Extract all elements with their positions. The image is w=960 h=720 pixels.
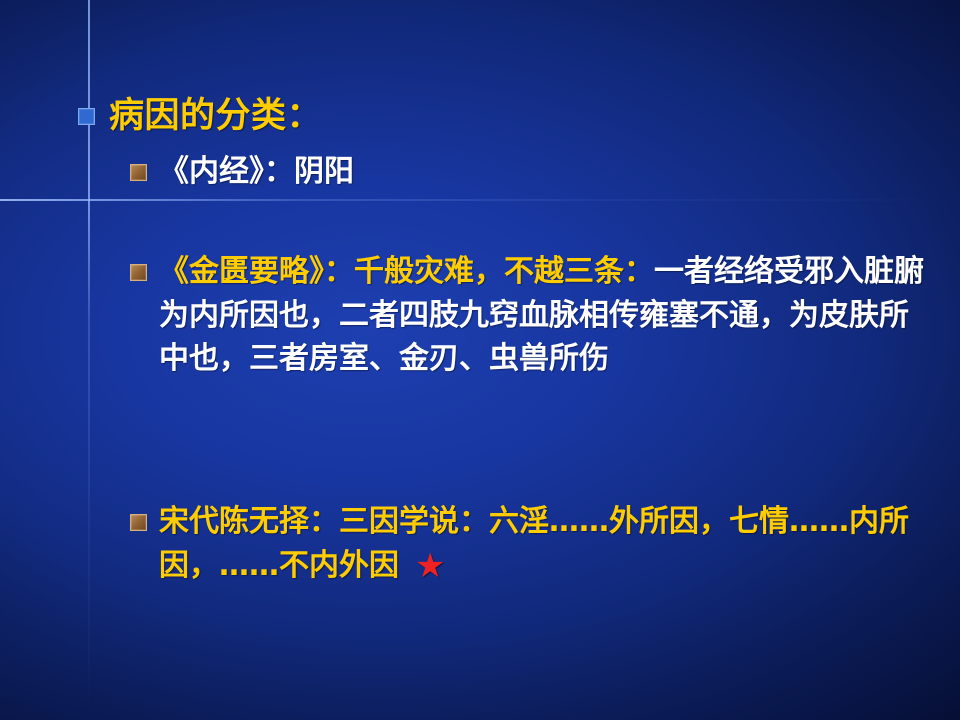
jingui-highlight-text: 《金匮要略》：千般灾难，不越三条： bbox=[159, 254, 654, 289]
list-item-text-sandai: 宋代陈无择：三因学说：六淫……外所因，七情……内所因，……不内外因★ bbox=[159, 500, 934, 587]
decorative-horizontal-line bbox=[0, 199, 960, 201]
square-bullet-icon bbox=[78, 108, 95, 125]
slide-title: 病因的分类： bbox=[109, 96, 322, 136]
red-star-icon: ★ bbox=[415, 546, 445, 586]
small-square-bullet-icon bbox=[130, 514, 147, 531]
small-square-bullet-icon bbox=[130, 264, 147, 281]
list-item: 《内经》：阴阳 bbox=[130, 150, 354, 194]
title-bullet-row: 病因的分类： bbox=[78, 96, 322, 136]
list-item-text-neijing: 《内经》：阴阳 bbox=[159, 150, 354, 194]
list-item: 宋代陈无择：三因学说：六淫……外所因，七情……内所因，……不内外因★ bbox=[130, 500, 940, 587]
small-square-bullet-icon bbox=[130, 164, 147, 181]
list-item: 《金匮要略》：千般灾难，不越三条：一者经络受邪入脏腑为内所因也，二者四肢九窍血脉… bbox=[130, 250, 940, 381]
list-item-text-jingui: 《金匮要略》：千般灾难，不越三条：一者经络受邪入脏腑为内所因也，二者四肢九窍血脉… bbox=[159, 250, 934, 381]
slide-canvas: 病因的分类： 《内经》：阴阳 《金匮要略》：千般灾难，不越三条：一者经络受邪入脏… bbox=[0, 0, 960, 720]
sandai-body-text: 宋代陈无择：三因学说：六淫……外所因，七情……内所因，……不内外因 bbox=[159, 504, 909, 583]
